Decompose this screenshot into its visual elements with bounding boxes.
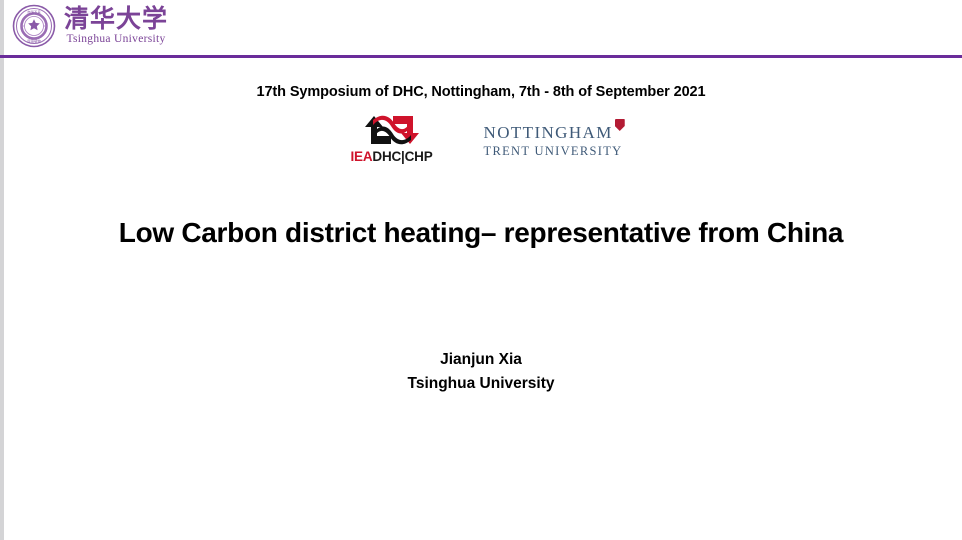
university-name-en: Tsinghua University [66, 34, 165, 46]
logo-row: IEADHC|CHP NOTTINGHAM TRENT UNIVERSITY [0, 114, 962, 170]
university-name-cn: 清华大学 [64, 6, 168, 32]
iea-logo-text-black: DHC|CHP [372, 149, 432, 164]
page-title: Low Carbon district heating– representat… [0, 217, 962, 249]
slide-header: 自强不息 厚德载物 清华大学 Tsinghua University [0, 0, 962, 56]
svg-text:厚德载物: 厚德载物 [27, 39, 41, 44]
iea-wave-mark-icon [363, 114, 421, 146]
iea-logo-text-red: IEA [350, 149, 372, 164]
ntu-shield-icon [615, 119, 625, 131]
nottingham-trent-university-logo: NOTTINGHAM TRENT UNIVERSITY [484, 114, 623, 158]
left-edge-strip [0, 0, 4, 540]
header-divider [0, 55, 962, 58]
tsinghua-wordmark: 清华大学 Tsinghua University [64, 6, 168, 46]
ntu-logo-line2: TRENT UNIVERSITY [484, 145, 623, 158]
iea-dhc-chp-logo: IEADHC|CHP [340, 114, 444, 164]
ntu-logo-line1-text: NOTTINGHAM [484, 123, 613, 142]
ntu-logo-line1: NOTTINGHAM [484, 124, 613, 141]
tsinghua-seal-icon: 自强不息 厚德载物 [12, 4, 56, 48]
symposium-line: 17th Symposium of DHC, Nottingham, 7th -… [0, 84, 962, 100]
author-affiliation: Tsinghua University [0, 372, 962, 396]
author-block: Jianjun Xia Tsinghua University [0, 348, 962, 396]
tsinghua-brand-lockup: 自强不息 厚德载物 清华大学 Tsinghua University [12, 4, 168, 48]
iea-logo-text: IEADHC|CHP [350, 149, 432, 164]
svg-text:自强不息: 自强不息 [27, 9, 41, 14]
author-name: Jianjun Xia [0, 348, 962, 372]
presentation-title-slide: 自强不息 厚德载物 清华大学 Tsinghua University 17th … [0, 0, 962, 540]
